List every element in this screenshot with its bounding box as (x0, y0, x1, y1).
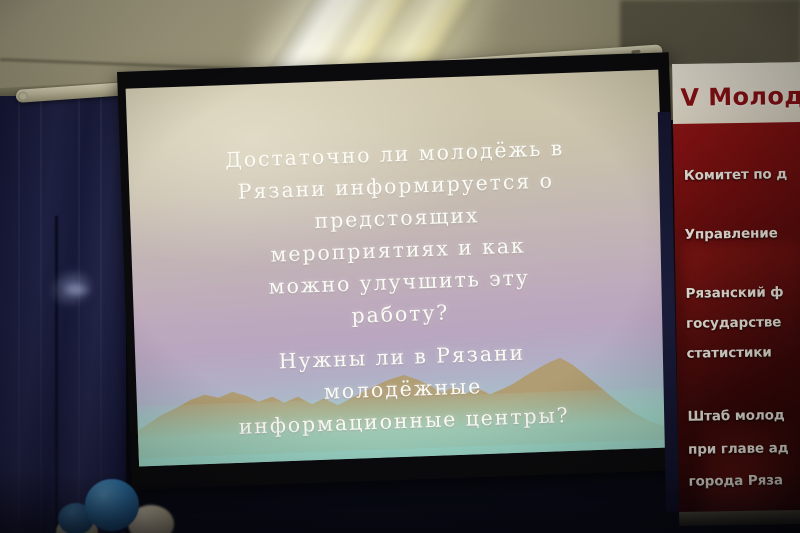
event-banner: V Молод Комитет по д Управление Рязански… (672, 62, 800, 526)
banner-line: Управление (685, 225, 778, 242)
curtain-fold (78, 96, 80, 533)
banner-line: города Ряза (688, 472, 783, 489)
curtain-fold (18, 96, 20, 533)
screen-canvas: Достаточно ли молодёжь в Рязани информир… (126, 70, 672, 467)
banner-line: статистики (686, 344, 771, 361)
banner-line: при главе ад (688, 440, 789, 458)
roller-end-cap (18, 91, 29, 101)
projection-screen: Достаточно ли молодёжь в Рязани информир… (117, 52, 684, 489)
banner-line: Комитет по д (684, 166, 788, 184)
banner-line: Штаб молод (687, 407, 784, 425)
photo-scene: Достаточно ли молодёжь в Рязани информир… (0, 0, 800, 533)
curtain-seam (55, 216, 58, 533)
curtain-fold (40, 96, 42, 533)
balloon-blue-large (85, 479, 139, 531)
window-curtain (0, 96, 126, 533)
curtain-fold (100, 96, 102, 533)
banner-line: Рязанский ф (685, 284, 783, 302)
curtain-highlight (62, 282, 92, 298)
banner-base (679, 510, 800, 526)
banner-title: V Молод (680, 82, 800, 112)
slide-text-block: Достаточно ли молодёжь в Рязани информир… (128, 130, 671, 448)
banner-line: государстве (686, 314, 781, 331)
